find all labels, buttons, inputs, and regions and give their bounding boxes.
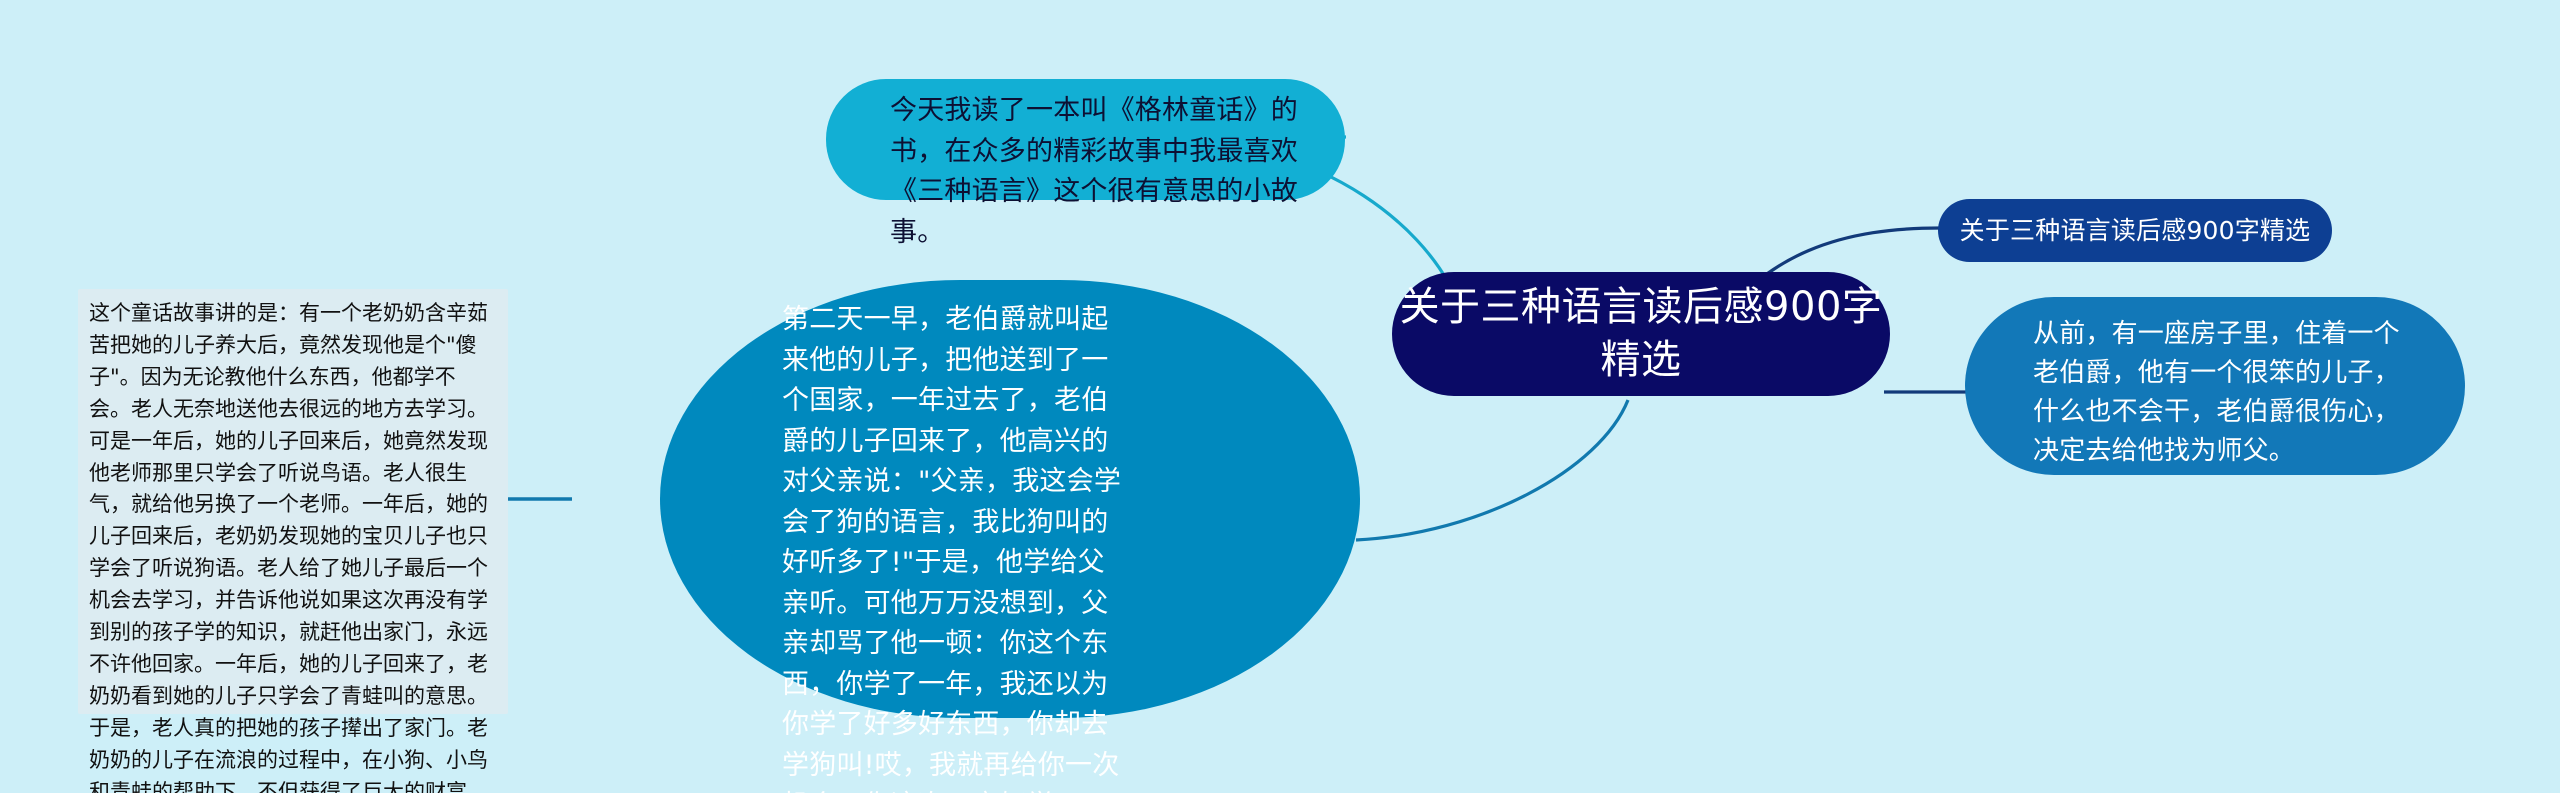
node-story-opening-label: 从前，有一座房子里，住着一个老伯爵，他有一个很笨的儿子，什么也不会干，老伯爵很伤… (1965, 297, 2465, 471)
node-story-body[interactable]: 第二天一早，老伯爵就叫起来他的儿子，把他送到了一个国家，一年过去了，老伯爵的儿子… (660, 280, 1360, 718)
node-story-opening[interactable]: 从前，有一座房子里，住着一个老伯爵，他有一个很笨的儿子，什么也不会干，老伯爵很伤… (1965, 297, 2465, 475)
node-intro[interactable]: 今天我读了一本叫《格林童话》的书，在众多的精彩故事中我最喜欢《三种语言》这个很有… (826, 79, 1345, 200)
node-root[interactable]: 关于三种语言读后感900字精选 (1392, 272, 1890, 396)
node-story-body-label: 第二天一早，老伯爵就叫起来他的儿子，把他送到了一个国家，一年过去了，老伯爵的儿子… (660, 280, 1360, 793)
summary-text: 这个童话故事讲的是：有一个老奶奶含辛茹苦把她的儿子养大后，竟然发现他是个"傻子"… (78, 289, 508, 793)
node-intro-label: 今天我读了一本叫《格林童话》的书，在众多的精彩故事中我最喜欢《三种语言》这个很有… (826, 79, 1345, 253)
edge-root-to-story (1356, 400, 1628, 540)
node-title-right-label: 关于三种语言读后感900字精选 (1938, 216, 2332, 246)
mindmap-canvas: 这个童话故事讲的是：有一个老奶奶含辛茹苦把她的儿子养大后，竟然发现他是个"傻子"… (0, 0, 2560, 793)
summary-text-block[interactable]: 这个童话故事讲的是：有一个老奶奶含辛茹苦把她的儿子养大后，竟然发现他是个"傻子"… (78, 289, 508, 714)
node-title-right[interactable]: 关于三种语言读后感900字精选 (1938, 199, 2332, 262)
node-root-label: 关于三种语言读后感900字精选 (1392, 281, 1890, 387)
